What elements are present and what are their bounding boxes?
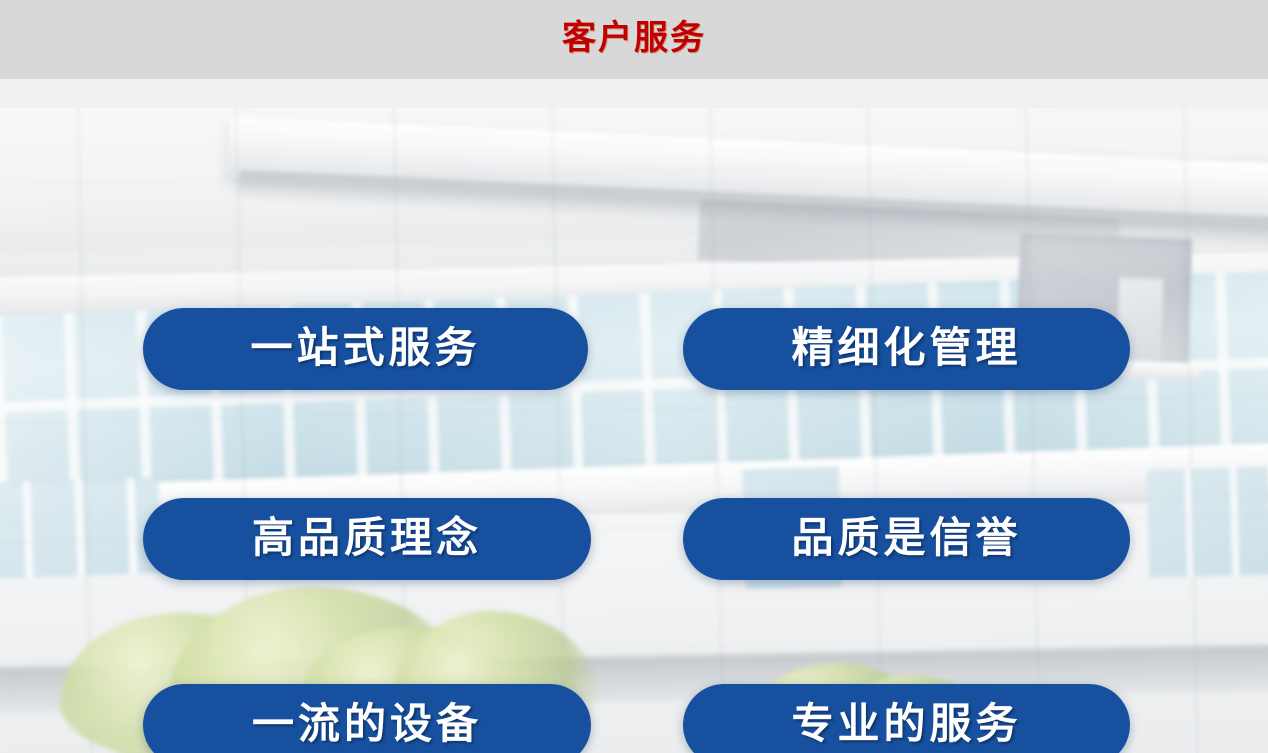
feature-pill-refined-management[interactable]: 精细化管理: [683, 308, 1130, 390]
hero-banner-image: 一站式服务 精细化管理 高品质理念 品质是信誉 一流的设备 专业的服务: [0, 108, 1268, 753]
feature-pill-label: 专业的服务: [791, 703, 1021, 745]
feature-pill-label: 一流的设备: [252, 703, 482, 745]
feature-pill-label: 一站式服务: [250, 327, 480, 369]
feature-pill-label: 品质是信誉: [791, 517, 1021, 559]
header-band: 客户服务: [0, 0, 1268, 79]
page-title: 客户服务: [562, 21, 706, 55]
feature-pill-label: 高品质理念: [252, 517, 482, 559]
feature-pill-label: 精细化管理: [791, 327, 1021, 369]
feature-pill-professional-service[interactable]: 专业的服务: [683, 684, 1130, 753]
header-subband-divider: [0, 79, 1268, 108]
feature-pill-one-stop-service[interactable]: 一站式服务: [143, 308, 588, 390]
feature-pill-grid: 一站式服务 精细化管理 高品质理念 品质是信誉 一流的设备 专业的服务: [0, 108, 1268, 753]
feature-pill-high-quality-concept[interactable]: 高品质理念: [143, 498, 591, 580]
feature-pill-quality-is-reputation[interactable]: 品质是信誉: [683, 498, 1130, 580]
feature-pill-first-class-equipment[interactable]: 一流的设备: [143, 684, 591, 753]
page-root: 客户服务: [0, 0, 1268, 753]
